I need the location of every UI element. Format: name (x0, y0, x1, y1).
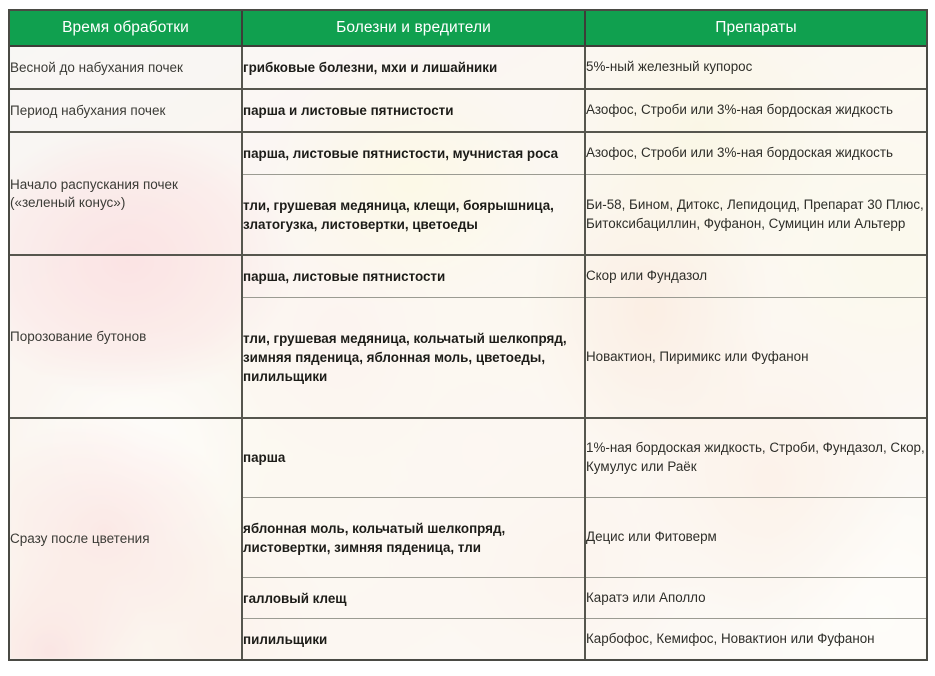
table-body: Весной до набухания почекгрибковые болез… (10, 46, 926, 659)
cell-preparations: Азофос, Строби или 3%-ная бордоская жидк… (585, 132, 926, 174)
table-row: Период набухания почекпарша и листовые п… (10, 89, 926, 132)
table-row: Порозование бутоновпарша, листовые пятни… (10, 255, 926, 297)
cell-pests-diseases: галловый клещ (242, 578, 585, 619)
column-header-pests: Болезни и вредители (242, 11, 585, 46)
cell-preparations: Скор или Фундазол (585, 255, 926, 297)
table-header-row: Время обработки Болезни и вредители Преп… (10, 11, 926, 46)
cell-preparations: Каратэ или Аполло (585, 578, 926, 619)
cell-pests-diseases: тли, грушевая медяница, клещи, боярышниц… (242, 174, 585, 255)
table-row: Весной до набухания почекгрибковые болез… (10, 46, 926, 89)
cell-pests-diseases: парша, листовые пятнистости (242, 255, 585, 297)
cell-pests-diseases: грибковые болезни, мхи и лишайники (242, 46, 585, 89)
cell-preparations: Би-58, Бином, Дитокс, Лепидоцид, Препара… (585, 174, 926, 255)
cell-treatment-period: Сразу после цветения (10, 418, 242, 659)
cell-treatment-period: Период набухания почек (10, 89, 242, 132)
column-header-drugs: Препараты (585, 11, 926, 46)
cell-pests-diseases: пилильщики (242, 619, 585, 659)
cell-treatment-period: Начало распускания почек («зеленый конус… (10, 132, 242, 255)
cell-treatment-period: Весной до набухания почек (10, 46, 242, 89)
cell-pests-diseases: парша, листовые пятнистости, мучнистая р… (242, 132, 585, 174)
cell-preparations: 5%-ный железный купорос (585, 46, 926, 89)
table-row: Сразу после цветенияпарша1%-ная бордоска… (10, 418, 926, 498)
cell-pests-diseases: парша (242, 418, 585, 498)
table-header: Время обработки Болезни и вредители Преп… (10, 11, 926, 46)
cell-preparations: Карбофос, Кемифос, Новактион или Фуфанон (585, 619, 926, 659)
column-header-period: Время обработки (10, 11, 242, 46)
cell-preparations: Децис или Фитоверм (585, 498, 926, 578)
cell-pests-diseases: парша и листовые пятнистости (242, 89, 585, 132)
treatment-schedule-table-container: Время обработки Болезни и вредители Преп… (8, 9, 928, 661)
cell-pests-diseases: тли, грушевая медяница, кольчатый шелкоп… (242, 298, 585, 418)
cell-treatment-period: Порозование бутонов (10, 255, 242, 417)
cell-preparations: 1%-ная бордоская жидкость, Строби, Фунда… (585, 418, 926, 498)
table-row: Начало распускания почек («зеленый конус… (10, 132, 926, 174)
cell-pests-diseases: яблонная моль, кольчатый шелкопряд, лист… (242, 498, 585, 578)
cell-preparations: Новактион, Пиримикс или Фуфанон (585, 298, 926, 418)
cell-preparations: Азофос, Строби или 3%-ная бордоская жидк… (585, 89, 926, 132)
treatment-schedule-table: Время обработки Болезни и вредители Преп… (10, 11, 926, 659)
